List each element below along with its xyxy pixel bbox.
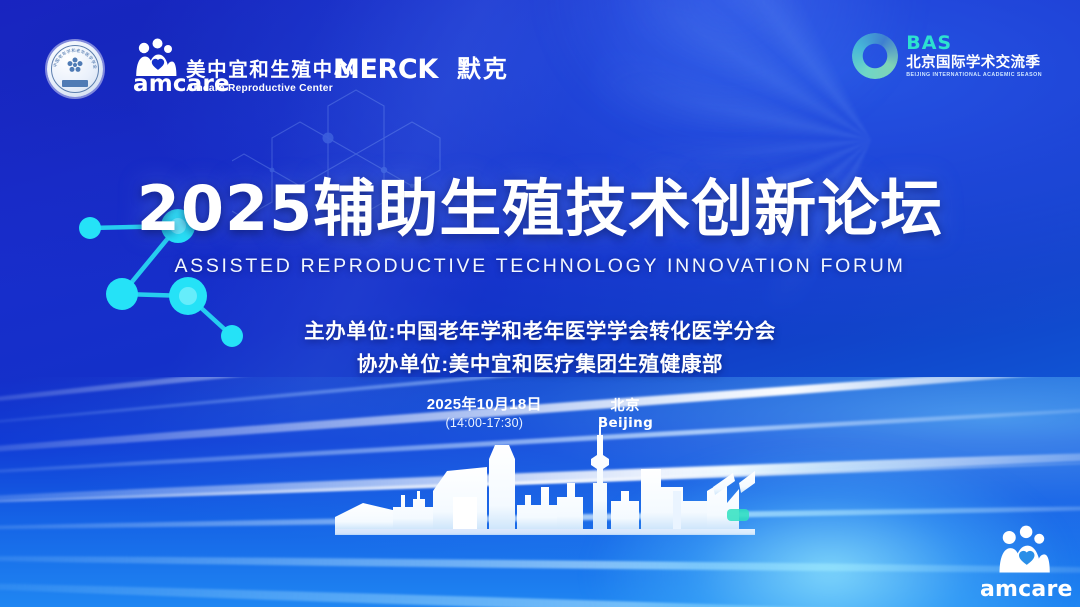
amcare-family-icon bbox=[995, 525, 1051, 577]
event-date: 2025年10月18日 bbox=[427, 396, 542, 415]
co-organizer: 协办单位:美中宜和医疗集团生殖健康部 bbox=[0, 349, 1080, 382]
event-location-block: 北京 Beijing bbox=[598, 396, 653, 432]
host-organizer: 主办单位:中国老年学和老年医学学会转化医学分会 bbox=[0, 316, 1080, 349]
organizers-block: 主办单位:中国老年学和老年医学学会转化医学分会 协办单位:美中宜和医疗集团生殖健… bbox=[0, 316, 1080, 382]
conference-poster: 中国老年学和老年医学学会 bbox=[0, 0, 1080, 607]
page-title: 2025辅助生殖技术创新论坛 bbox=[0, 178, 1080, 240]
event-time: (14:00-17:30) bbox=[427, 415, 542, 433]
event-city-en: Beijing bbox=[598, 415, 653, 433]
main-content: 2025辅助生殖技术创新论坛 ASSISTED REPRODUCTIVE TEC… bbox=[0, 0, 1080, 607]
amcare-wordmark: amcare bbox=[980, 579, 1066, 601]
event-meta: 2025年10月18日 (14:00-17:30) 北京 Beijing bbox=[0, 396, 1080, 432]
event-date-block: 2025年10月18日 (14:00-17:30) bbox=[427, 396, 542, 432]
amcare-footer-logo: amcare bbox=[980, 525, 1066, 601]
event-city-cn: 北京 bbox=[598, 397, 653, 415]
page-subtitle: ASSISTED REPRODUCTIVE TECHNOLOGY INNOVAT… bbox=[0, 255, 1080, 278]
